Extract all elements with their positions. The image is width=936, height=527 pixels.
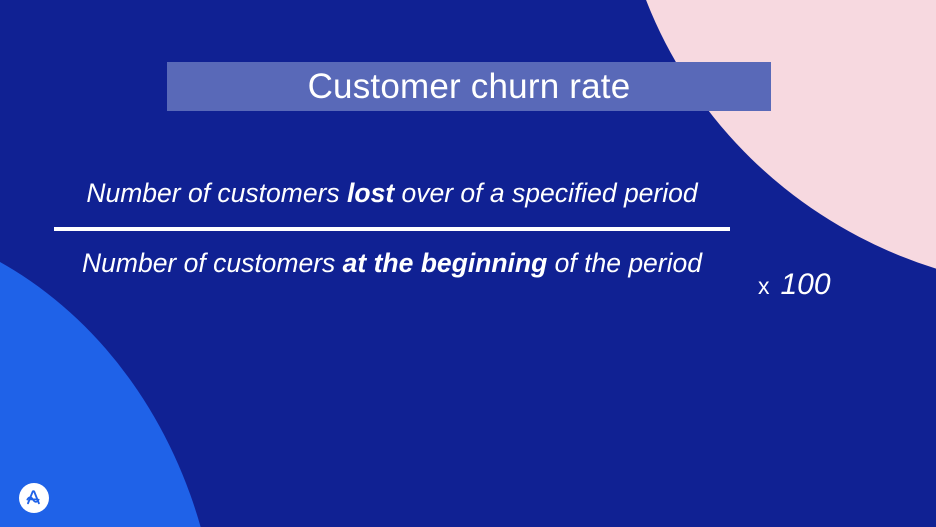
numerator-text-after: over of a specified period — [394, 178, 697, 208]
formula-block: Number of customers lost over of a speci… — [0, 175, 936, 282]
title-banner: Customer churn rate — [167, 62, 771, 111]
page-title: Customer churn rate — [308, 69, 631, 104]
fraction: Number of customers lost over of a speci… — [0, 175, 760, 282]
denominator-text-after: of the period — [547, 248, 702, 278]
numerator-text-before: Number of customers — [86, 178, 347, 208]
fraction-numerator: Number of customers lost over of a speci… — [82, 175, 702, 219]
denominator-emphasis: at the beginning — [343, 248, 548, 278]
monogram-a-wave-logo-icon — [19, 483, 49, 513]
multiplier-group: x 100 — [758, 268, 831, 302]
numerator-emphasis: lost — [347, 178, 394, 208]
multiplier-value: 100 — [781, 268, 831, 302]
slide-canvas: Customer churn rate Number of customers … — [0, 0, 936, 527]
multiplication-sign: x — [758, 273, 770, 300]
denominator-text-before: Number of customers — [82, 248, 343, 278]
fraction-denominator: Number of customers at the beginning of … — [82, 231, 702, 283]
